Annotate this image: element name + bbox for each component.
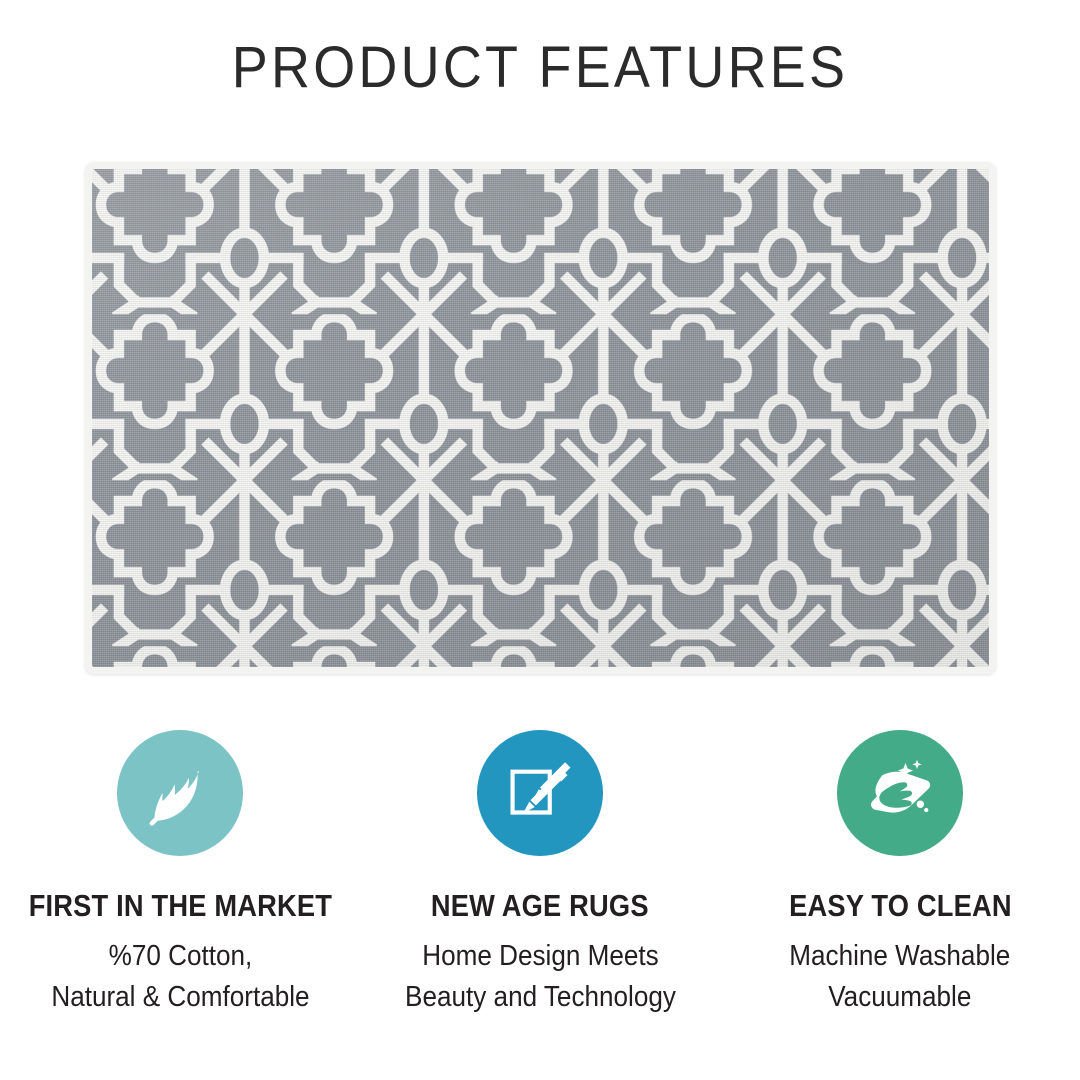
feature-body-line: Beauty and Technology [405,977,676,1018]
feature-body-line: %70 Cotton, [51,936,309,977]
rug-pattern-field [92,169,989,667]
feature-new-age-rugs: NEW AGE RUGS Home Design Meets Beauty an… [360,730,720,1018]
features-row: FIRST IN THE MARKET %70 Cotton, Natural … [0,730,1080,1018]
page-title: PRODUCT FEATURES [38,34,1042,101]
feature-body: %70 Cotton, Natural & Comfortable [51,936,309,1018]
hand-wiping-cloth-sparkle-icon [860,753,940,833]
feather-icon-badge [117,730,243,856]
feature-first-in-the-market: FIRST IN THE MARKET %70 Cotton, Natural … [0,730,360,1018]
pencil-brush-frame-icon-badge [477,730,603,856]
feature-heading: FIRST IN THE MARKET [28,888,331,924]
feature-heading: EASY TO CLEAN [789,888,1012,924]
hand-wiping-cloth-sparkle-icon-badge [837,730,963,856]
feature-body: Machine Washable Vacuumable [789,936,1010,1018]
feature-body-line: Natural & Comfortable [51,977,309,1018]
moroccan-trellis-pattern [92,169,989,667]
pencil-brush-frame-icon [501,754,579,832]
feature-easy-to-clean: EASY TO CLEAN Machine Washable Vacuumabl… [720,730,1080,1018]
product-rug-photo [85,162,996,674]
feature-body-line: Machine Washable [789,936,1010,977]
feature-body: Home Design Meets Beauty and Technology [405,936,676,1018]
feather-icon [141,754,219,832]
feature-body-line: Vacuumable [789,977,1010,1018]
rug-bound-edge [85,162,996,674]
feature-body-line: Home Design Meets [405,936,676,977]
feature-heading: NEW AGE RUGS [431,888,649,924]
